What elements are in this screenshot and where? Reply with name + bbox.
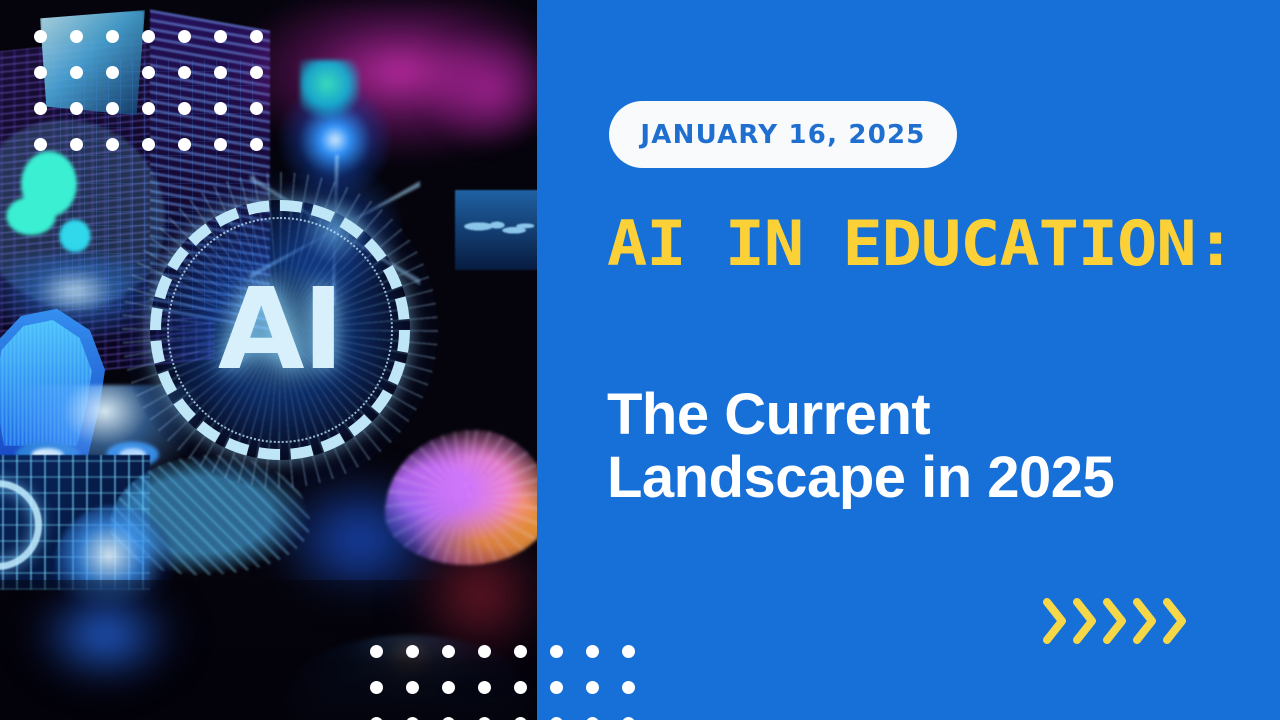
dot bbox=[370, 645, 383, 658]
dot bbox=[550, 645, 563, 658]
dot bbox=[442, 681, 455, 694]
dot bbox=[70, 30, 83, 43]
ai-collage-image: AI bbox=[0, 0, 537, 720]
dot bbox=[34, 66, 47, 79]
dot bbox=[622, 645, 635, 658]
dot bbox=[514, 681, 527, 694]
page-subtitle: The Current Landscape in 2025 bbox=[607, 384, 1127, 509]
date-badge-label: JANUARY 16, 2025 bbox=[640, 120, 925, 150]
dot bbox=[106, 102, 119, 115]
dot bbox=[70, 66, 83, 79]
dot bbox=[214, 102, 227, 115]
dot bbox=[250, 138, 263, 151]
dot bbox=[106, 30, 119, 43]
dot bbox=[586, 681, 599, 694]
dot bbox=[34, 138, 47, 151]
dot bbox=[586, 645, 599, 658]
dot bbox=[478, 681, 491, 694]
dot bbox=[622, 681, 635, 694]
dot bbox=[214, 66, 227, 79]
page-title: AI IN EDUCATION: bbox=[607, 214, 1277, 275]
dot bbox=[442, 645, 455, 658]
dot-grid-bottom bbox=[370, 645, 658, 720]
chevron-right-icon bbox=[1072, 598, 1098, 644]
dot bbox=[70, 138, 83, 151]
dot-grid-top-left bbox=[34, 30, 286, 174]
dot bbox=[250, 30, 263, 43]
mini-globe-graphic bbox=[300, 60, 360, 120]
dot bbox=[34, 102, 47, 115]
dot bbox=[214, 30, 227, 43]
chevron-right-icon bbox=[1102, 598, 1128, 644]
dot bbox=[70, 102, 83, 115]
dot bbox=[178, 138, 191, 151]
dot bbox=[214, 138, 227, 151]
chevron-right-icon bbox=[1162, 598, 1188, 644]
dot bbox=[478, 645, 491, 658]
blue-bokeh-bottom-left bbox=[20, 575, 190, 695]
blog-header-banner: AI JANUARY 16, 2025 AI IN EDUCATION: The… bbox=[0, 0, 1280, 720]
chevron-right-icon bbox=[1132, 598, 1158, 644]
date-badge: JANUARY 16, 2025 bbox=[609, 101, 957, 168]
title-panel: JANUARY 16, 2025 AI IN EDUCATION: The Cu… bbox=[537, 0, 1280, 720]
dot bbox=[142, 30, 155, 43]
dot bbox=[550, 681, 563, 694]
dot bbox=[250, 102, 263, 115]
dot bbox=[142, 66, 155, 79]
dot bbox=[370, 681, 383, 694]
dot bbox=[106, 138, 119, 151]
dot bbox=[178, 66, 191, 79]
chevron-decoration bbox=[1042, 598, 1188, 644]
dot bbox=[406, 645, 419, 658]
dot bbox=[142, 102, 155, 115]
ai-circle-emblem: AI bbox=[150, 200, 410, 460]
world-map-dashboard bbox=[455, 190, 537, 270]
dot bbox=[250, 66, 263, 79]
magenta-glow-secondary bbox=[420, 30, 537, 150]
dot bbox=[178, 102, 191, 115]
dot bbox=[142, 138, 155, 151]
dot bbox=[406, 681, 419, 694]
dot bbox=[106, 66, 119, 79]
emblem-label: AI bbox=[150, 200, 410, 460]
chevron-right-icon bbox=[1042, 598, 1068, 644]
dot bbox=[514, 645, 527, 658]
dot bbox=[34, 30, 47, 43]
dot bbox=[178, 30, 191, 43]
